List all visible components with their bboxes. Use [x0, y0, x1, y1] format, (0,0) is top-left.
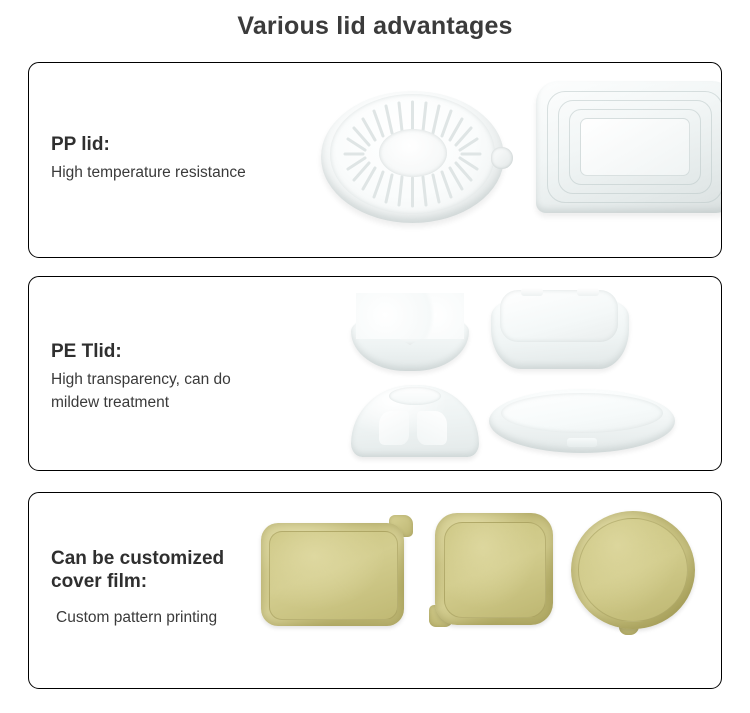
rectangular-gold-foil-cover-image — [261, 515, 413, 630]
round-lid-pull-tab — [491, 147, 513, 169]
panel-pp-lid-images — [291, 63, 721, 257]
panel-cover-film-subtext: Custom pattern printing — [51, 598, 224, 629]
round-foil-inner-panel — [578, 518, 688, 622]
square-foil-inner-panel — [444, 522, 546, 618]
oval-lid-notch — [567, 438, 597, 447]
panel-pe-lid-images — [341, 277, 721, 470]
panel-pp-lid: PP lid: High temperature resistance — [28, 62, 722, 258]
heart-shaped-pe-lid-image — [351, 293, 471, 375]
round-pp-lid-image — [321, 85, 506, 230]
round-lid-center-panel — [379, 129, 447, 177]
rect-lid-center-panel — [580, 118, 690, 176]
square-lid-top-panel — [500, 290, 618, 342]
panel-pp-lid-subtext: High temperature resistance — [51, 161, 246, 184]
dome-lid-highlight-left — [379, 411, 409, 445]
dome-pe-lid-image — [351, 385, 481, 465]
panel-pe-lid: PE Tlid: High transparency, can do milde… — [28, 276, 722, 471]
square-pe-lid-image — [491, 287, 631, 375]
square-lid-notch-left — [521, 288, 543, 296]
panel-cover-film-text: Can be customized cover film: Custom pat… — [51, 547, 224, 629]
panel-pe-lid-heading: PE Tlid: — [51, 340, 231, 363]
heart-lid-highlight — [356, 293, 464, 339]
square-lid-notch-right — [577, 288, 599, 296]
dome-lid-highlight-right — [417, 411, 447, 445]
panel-pp-lid-heading: PP lid: — [51, 133, 246, 156]
panel-cover-film-heading: Can be customized cover film: — [51, 547, 224, 593]
page-title: Various lid advantages — [0, 0, 750, 42]
dome-lid-top-ring — [389, 387, 441, 405]
oval-pe-lid-image — [489, 389, 679, 461]
rect-foil-inner-panel — [269, 531, 398, 620]
panel-pe-lid-text: PE Tlid: High transparency, can do milde… — [51, 340, 231, 414]
square-gold-foil-cover-image — [429, 513, 561, 635]
round-gold-foil-cover-image — [571, 511, 706, 639]
panel-cover-film: Can be customized cover film: Custom pat… — [28, 492, 722, 689]
panel-pp-lid-text: PP lid: High temperature resistance — [51, 133, 246, 184]
rectangular-pp-lid-image — [536, 81, 722, 221]
panel-pe-lid-subtext: High transparency, can do mildew treatme… — [51, 368, 231, 414]
panel-cover-film-images — [251, 493, 721, 688]
oval-lid-top-panel — [501, 393, 663, 433]
